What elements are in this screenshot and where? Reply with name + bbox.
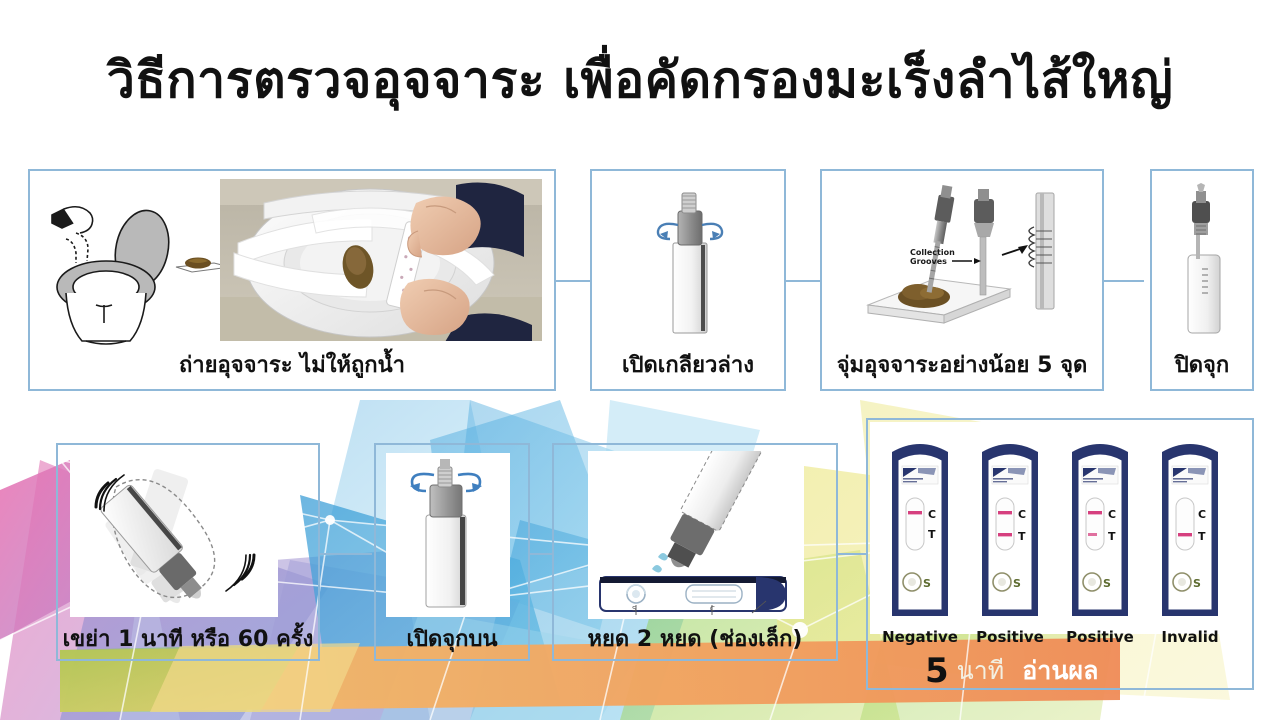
svg-text:S: S <box>923 577 931 590</box>
svg-text:T: T <box>1018 530 1026 543</box>
connector-step6-step7 <box>530 553 552 555</box>
svg-text:T: T <box>1108 530 1116 543</box>
svg-text:C: C <box>710 605 715 613</box>
tube-closed-cap-icon <box>1170 183 1238 345</box>
result-label-3: Positive <box>1054 628 1146 646</box>
step-1-caption: ถ่ายอุจจาระ ไม่ให้ถูกน้ำ <box>30 347 554 382</box>
drop-two-drops-cassette-icon: S C <box>588 451 804 619</box>
step-panel-4[interactable]: ปิดจุก <box>1150 169 1254 391</box>
svg-text:C: C <box>1018 508 1026 521</box>
results-panel[interactable]: C T S Negative C T S Positive <box>866 418 1254 690</box>
result-label-1: Negative <box>874 628 966 646</box>
step-5-art-box <box>70 453 278 617</box>
read-time-number: 5 <box>925 654 949 688</box>
svg-text:T: T <box>1198 530 1206 543</box>
svg-text:S: S <box>1013 577 1021 590</box>
step-2-caption: เปิดเกลียวล่าง <box>592 347 784 382</box>
step-5-caption: เขย่า 1 นาที หรือ 60 ครั้ง <box>58 621 318 656</box>
result-label-4: Invalid <box>1144 628 1236 646</box>
step-panel-3[interactable]: Collection Grooves จุ่มอุจจาระอย่างน้อย … <box>820 169 1104 391</box>
connector-step1-step2 <box>556 280 590 282</box>
svg-text:S: S <box>1103 577 1111 590</box>
step-panel-7[interactable]: S C หยด 2 หยด (ช่องเล็ก) <box>552 443 838 661</box>
step-panel-5[interactable]: เขย่า 1 นาที หรือ 60 ครั้ง <box>56 443 320 661</box>
read-result-time-band: 5 นาที อ่านผล <box>870 652 1254 690</box>
toilet-and-stool-icon <box>38 189 238 354</box>
svg-text:Grooves: Grooves <box>910 257 947 266</box>
tube-open-bottom-cap-icon <box>642 183 738 343</box>
shake-tube-icon <box>70 453 278 617</box>
svg-text:C: C <box>1108 508 1116 521</box>
probe-collection-grooves-icon: Collection Grooves <box>852 185 1078 340</box>
step-7-caption: หยด 2 หยด (ช่องเล็ก) <box>554 621 836 656</box>
step-4-caption: ปิดจุก <box>1152 347 1252 382</box>
connector-step3-step4 <box>1104 280 1144 282</box>
step-6-art-box <box>386 453 510 617</box>
slide-canvas: วิธีการตรวจอุจจาระ เพื่อคัดกรองมะเร็งลำไ… <box>0 0 1280 720</box>
step-panel-1[interactable]: ถ่ายอุจจาระ ไม่ให้ถูกน้ำ <box>28 169 556 391</box>
connector-step5-step6 <box>320 553 372 555</box>
svg-text:S: S <box>1193 577 1201 590</box>
svg-text:C: C <box>928 508 936 521</box>
svg-text:C: C <box>1198 508 1206 521</box>
step-panel-2[interactable]: เปิดเกลียวล่าง <box>590 169 786 391</box>
test-cassette-negative: C T S <box>882 430 958 626</box>
step-7-art-box: S C <box>588 451 804 619</box>
step-panel-6[interactable]: เปิดจุกบน <box>374 443 530 661</box>
stool-collection-photo <box>220 179 542 341</box>
step-3-caption: จุ่มอุจจาระอย่างน้อย 5 จุด <box>822 347 1102 382</box>
connector-step7-results <box>838 553 866 555</box>
result-label-2: Positive <box>964 628 1056 646</box>
read-time-unit: นาที <box>957 652 1005 690</box>
collection-grooves-label: Collection <box>910 248 955 257</box>
step-6-caption: เปิดจุกบน <box>376 621 528 656</box>
page-title: วิธีการตรวจอุจจาระ เพื่อคัดกรองมะเร็งลำไ… <box>0 52 1280 110</box>
tube-open-top-cap-icon <box>386 453 510 617</box>
read-result-label: อ่านผล <box>1022 652 1098 690</box>
test-cassette-invalid: C T S <box>1152 430 1228 626</box>
test-cassette-positive-1: C T S <box>972 430 1048 626</box>
connector-step2-step3 <box>786 280 820 282</box>
svg-text:T: T <box>928 528 936 541</box>
test-cassette-positive-2: C T S <box>1062 430 1138 626</box>
